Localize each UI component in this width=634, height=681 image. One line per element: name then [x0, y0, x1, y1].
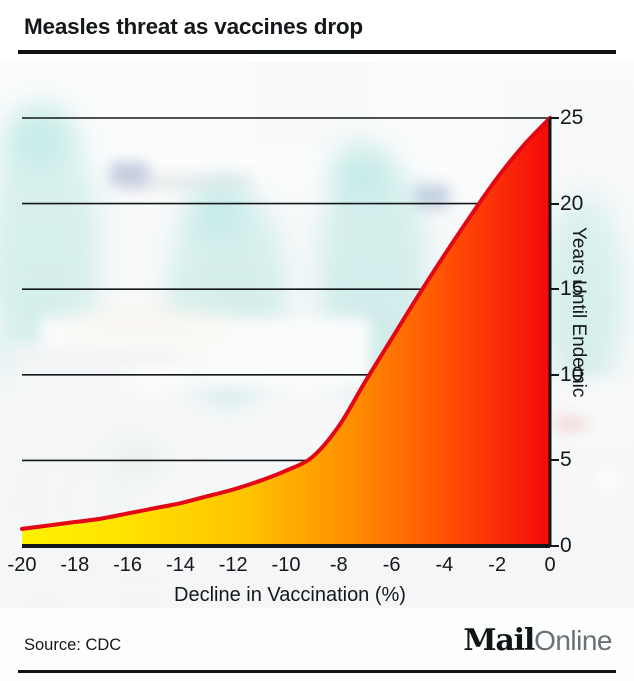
y-tick-label: 0 — [560, 534, 572, 558]
header-divider — [18, 50, 616, 54]
y-tick-mark — [550, 374, 559, 376]
x-axis-label: Decline in Vaccination (%) — [0, 584, 580, 607]
page-title: Measles threat as vaccines drop — [24, 14, 363, 40]
plot-region — [22, 118, 550, 546]
x-tick-label: -18 — [60, 554, 89, 577]
y-tick-label: 5 — [560, 448, 572, 472]
y-tick-label: 20 — [560, 192, 583, 216]
x-tick-label: -20 — [8, 554, 37, 577]
area-fill — [22, 118, 550, 546]
x-tick-label: -6 — [383, 554, 401, 577]
brand-mail-text: Mail — [463, 623, 534, 658]
footer: Source: CDC MailOnline — [0, 608, 634, 681]
source-credit: Source: CDC — [24, 636, 121, 655]
infographic-page: Measles threat as vaccines drop — [0, 0, 634, 681]
x-tick-label: -16 — [113, 554, 142, 577]
x-tick-label: -12 — [219, 554, 248, 577]
x-tick-label: -14 — [166, 554, 195, 577]
x-tick-label: -10 — [272, 554, 301, 577]
brand-online-text: Online — [534, 625, 612, 656]
x-tick-label: -4 — [435, 554, 453, 577]
x-tick-label: 0 — [544, 554, 555, 577]
footer-divider — [18, 670, 616, 673]
area-chart-svg — [22, 118, 550, 546]
y-tick-mark — [550, 288, 559, 290]
x-tick-label: -2 — [488, 554, 506, 577]
y-tick-mark — [550, 117, 559, 119]
y-tick-label: 25 — [560, 106, 583, 130]
x-tick-label: -8 — [330, 554, 348, 577]
mailonline-logo: MailOnline — [463, 626, 612, 656]
y-axis-label: Years Until Endemic — [567, 227, 589, 397]
chart-area: 0510152025 Years Until Endemic -20-18-16… — [0, 62, 634, 608]
header: Measles threat as vaccines drop — [0, 0, 634, 62]
y-tick-mark — [550, 459, 559, 461]
y-tick-mark — [550, 545, 559, 547]
y-tick-mark — [550, 203, 559, 205]
